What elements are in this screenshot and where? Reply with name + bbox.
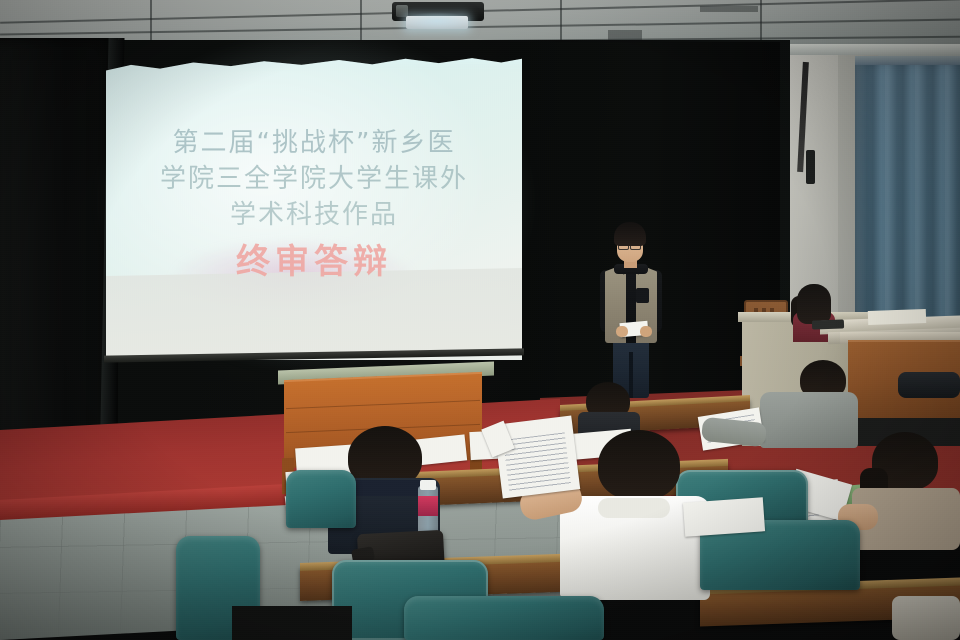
slide-line-3: 学术科技作品 — [106, 200, 522, 232]
seat-left-partial[interactable] — [286, 470, 356, 528]
slide-title: 终审答辩 — [106, 242, 522, 283]
vest-pocket — [636, 288, 649, 303]
audience-sleeve-bottom-right — [892, 596, 960, 640]
desk-paper-8 — [683, 497, 765, 536]
foreground-shadow — [232, 606, 352, 640]
audience-body-grey-jacket — [760, 392, 858, 448]
curtain-rail — [855, 56, 960, 65]
paper-lines-3 — [503, 432, 571, 491]
hanging-device — [806, 150, 815, 184]
presenter-hair — [614, 222, 646, 246]
lecture-hall-photo: 第二届“挑战杯”新乡医 学院三全学院大学生课外 学术科技作品 终审答辩 — [0, 0, 960, 640]
projector — [392, 2, 484, 32]
audience-back-far-right — [898, 372, 960, 398]
slide-line-1: 第二届“挑战杯”新乡医 — [106, 128, 522, 160]
seat-front-center[interactable] — [404, 596, 604, 640]
bottle-label — [418, 496, 438, 516]
remote-control — [812, 319, 844, 329]
polo-collar — [598, 498, 670, 518]
projection-screen: 第二届“挑战杯”新乡医 学院三全学院大学生课外 学术科技作品 终审答辩 — [106, 52, 522, 364]
bottle-cap — [420, 480, 436, 490]
operator-hair — [797, 284, 831, 324]
audience-head-front-center — [598, 430, 680, 500]
slide-line-2: 学院三全学院大学生课外 — [106, 164, 522, 196]
desk-papers — [868, 309, 926, 325]
